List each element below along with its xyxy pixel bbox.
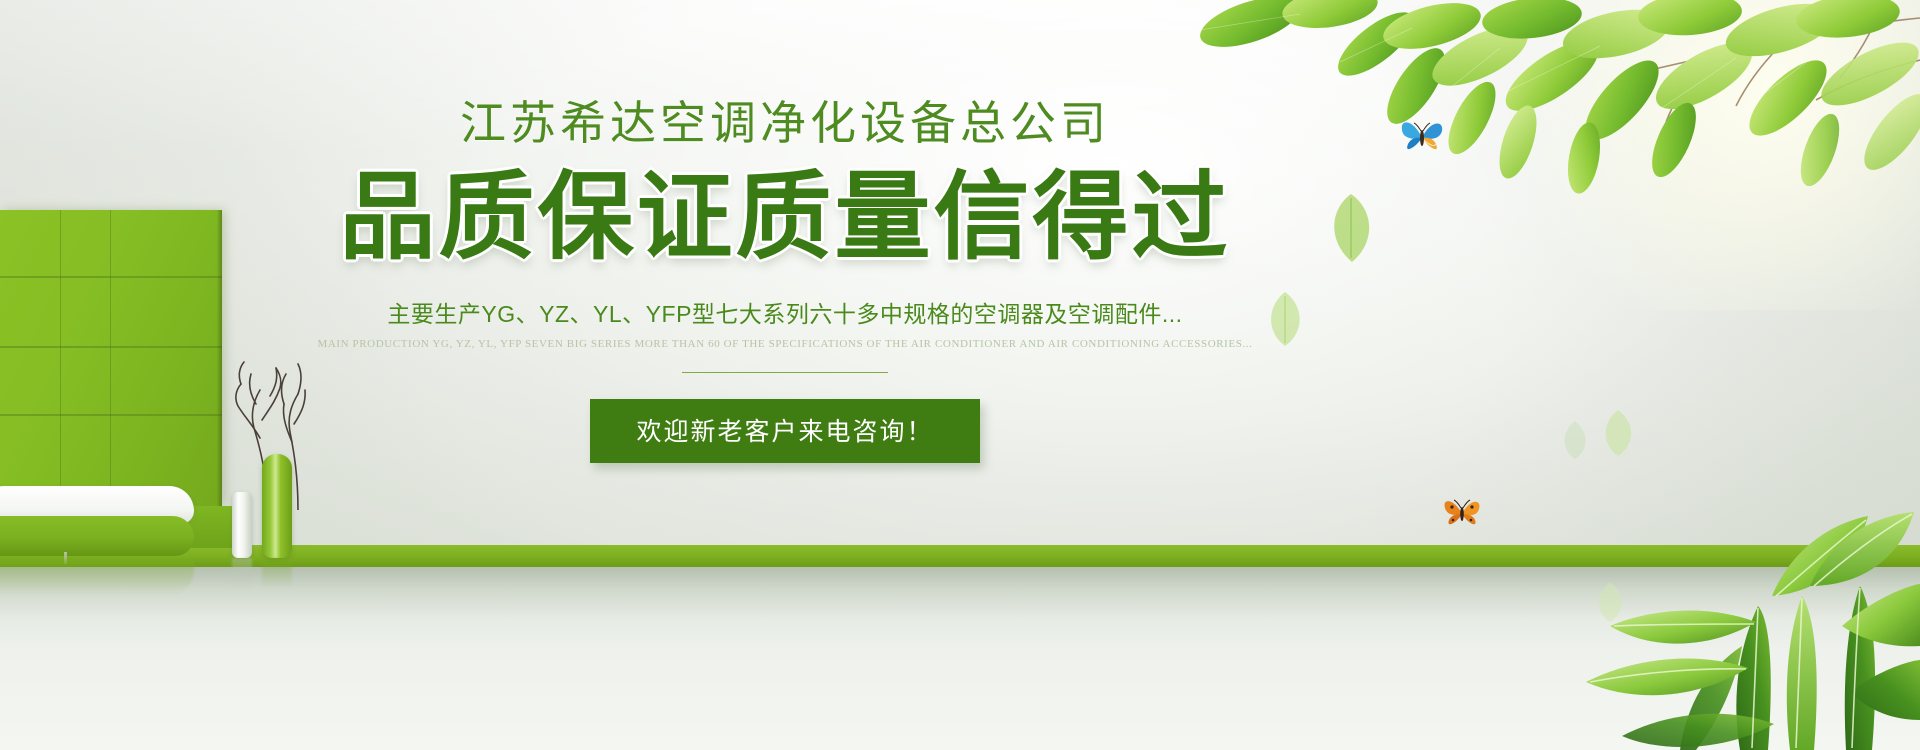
banner-content: 江苏希达空调净化设备总公司 品质保证质量信得过 主要生产YG、YZ、YL、YFP… bbox=[0, 0, 1570, 750]
company-name: 江苏希达空调净化设备总公司 bbox=[460, 100, 1110, 146]
slogan: 品质保证质量信得过 bbox=[340, 168, 1231, 269]
description-chinese: 主要生产YG、YZ、YL、YFP型七大系列六十多中规格的空调器及空调配件... bbox=[387, 295, 1182, 329]
floating-leaf-icon bbox=[1595, 408, 1641, 458]
hero-banner: 江苏希达空调净化设备总公司 品质保证质量信得过 主要生产YG、YZ、YL、YFP… bbox=[0, 0, 1920, 750]
divider bbox=[682, 372, 888, 373]
contact-cta-button[interactable]: 欢迎新老客户来电咨询！ bbox=[590, 399, 979, 463]
description-english: MAIN PRODUCTION YG, YZ, YL, YFP SEVEN BI… bbox=[317, 338, 1252, 350]
